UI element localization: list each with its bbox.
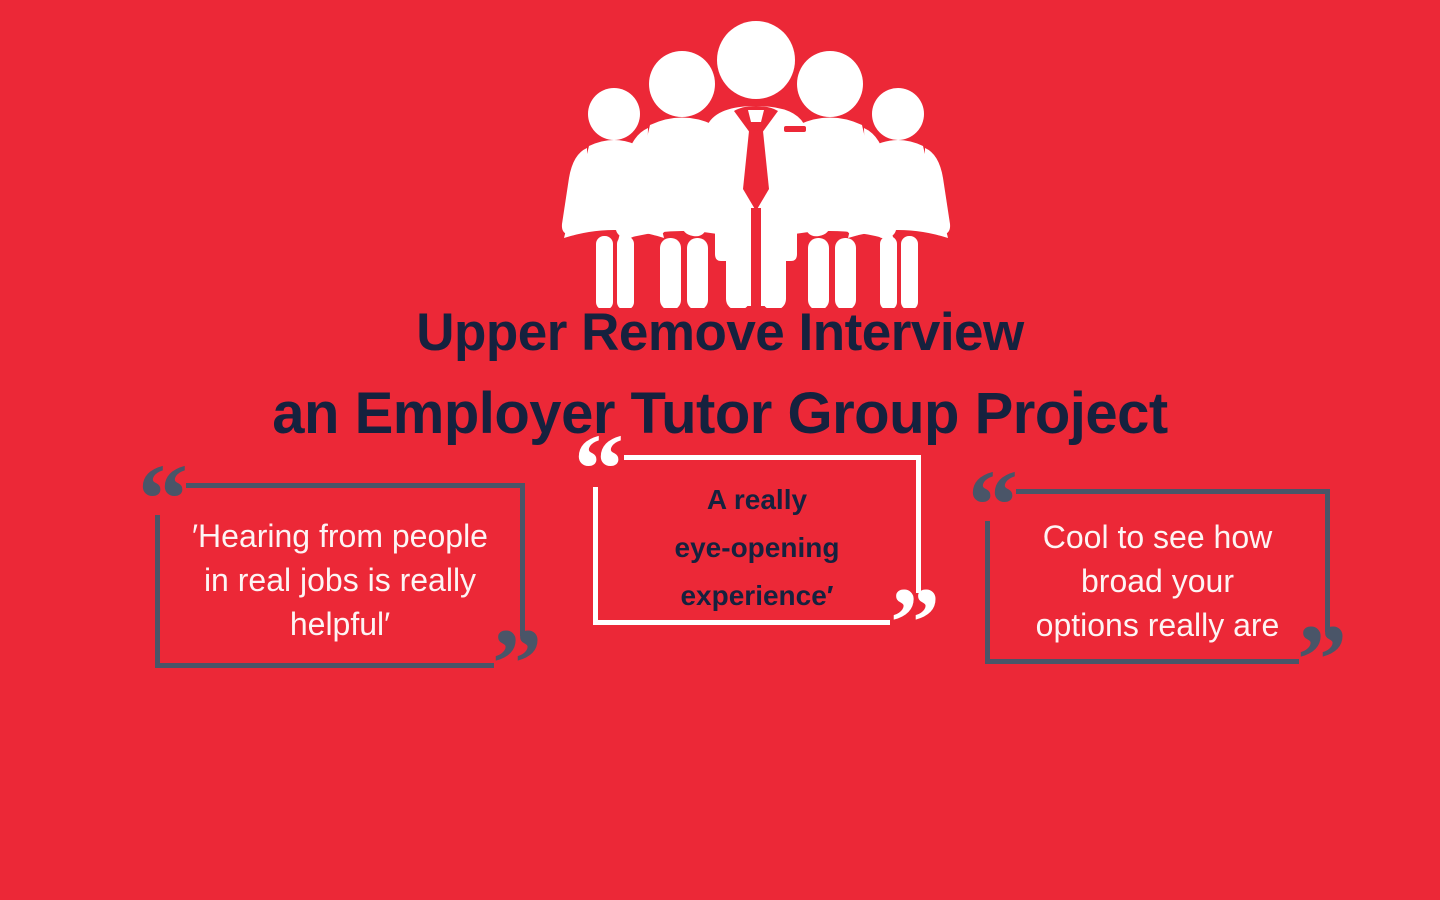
group-of-people-icon (556, 18, 956, 308)
quote-line: helpful′ (169, 602, 511, 646)
quote-line: options really are (991, 603, 1324, 647)
headline-line-1: Upper Remove Interview (0, 306, 1440, 360)
page-title: Upper Remove Interview an Employer Tutor… (0, 306, 1440, 443)
quote-card-right: “ ” Cool to see how broad your options r… (985, 489, 1330, 664)
quote-line: ′Hearing from people (169, 514, 511, 558)
quote-card-left: “ ” ′Hearing from people in real jobs is… (155, 483, 525, 668)
quote-text: ′Hearing from people in real jobs is rea… (155, 514, 525, 646)
poster-canvas: { "theme": { "background_color": "#EC283… (0, 0, 1440, 900)
figure-far-right (846, 88, 950, 308)
quote-card-middle: “ ” A really eye-opening experience′ (593, 455, 921, 625)
quote-text: Cool to see how broad your options reall… (985, 515, 1330, 647)
quote-text: A really eye-opening experience′ (593, 476, 921, 620)
quote-line: eye-opening (603, 524, 911, 572)
quote-line: A really (603, 476, 911, 524)
quote-line: broad your (991, 559, 1324, 603)
quote-line: in real jobs is really (169, 558, 511, 602)
quote-line: experience′ (603, 572, 911, 620)
quote-line: Cool to see how (991, 515, 1324, 559)
headline-line-2: an Employer Tutor Group Project (0, 384, 1440, 443)
